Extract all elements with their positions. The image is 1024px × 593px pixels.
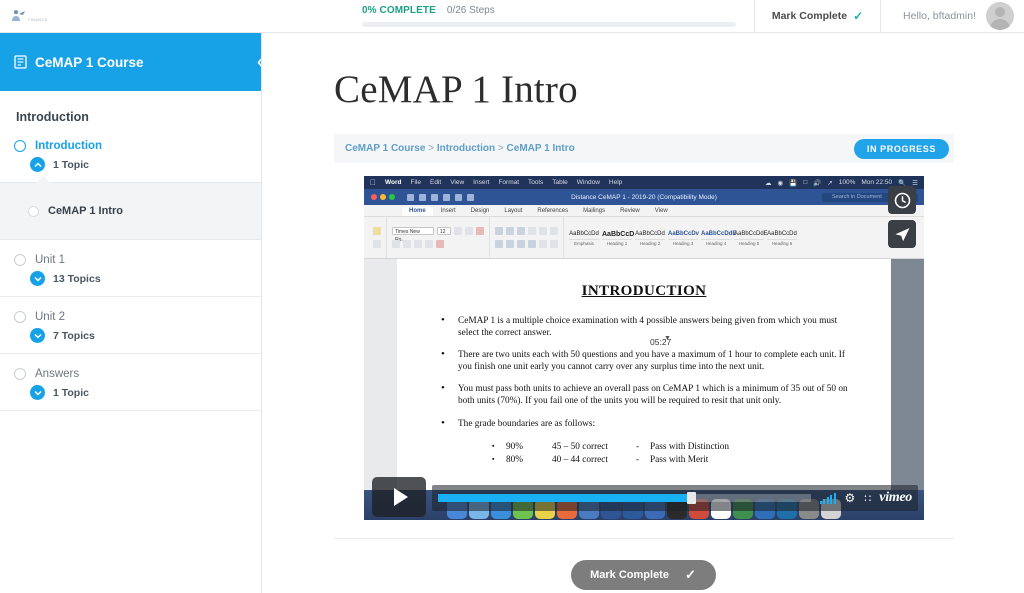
sidebar-lesson-label: Unit 2: [35, 311, 65, 323]
lesson-status-circle-icon: [14, 140, 26, 152]
progress-percent-label: 0% COMPLETE: [362, 5, 436, 16]
course-sidebar: CeMAP 1 Course Introduction Introduction: [0, 33, 262, 593]
align-right-icon: [517, 240, 525, 248]
style-preview: AaBbCcDv: [668, 230, 698, 239]
ribbon-tab-view: View: [648, 207, 675, 216]
chevron-down-icon: [30, 271, 45, 286]
justify-icon: [528, 240, 536, 248]
gear-icon[interactable]: ⚙: [845, 491, 856, 505]
style-heading-5: AaBbCcDdE Heading 5: [734, 230, 764, 246]
menubar-menu-help: Help: [609, 179, 622, 186]
breadcrumb-item-lesson[interactable]: Introduction: [437, 143, 495, 154]
user-menu[interactable]: Hello, bftadmin!: [881, 0, 1024, 32]
sidebar-topics-toggle-answers[interactable]: 1 Topic: [0, 382, 261, 410]
grade-row: 80% 40 – 44 correct - Pass with Merit: [488, 454, 857, 467]
style-name: Emphasis: [569, 239, 599, 246]
style-name: Heading 4: [701, 239, 731, 246]
ribbon-group-clipboard: [368, 217, 387, 258]
video-scrub-tooltip: ▼ 05:27: [646, 336, 675, 348]
sidebar-item-unit-2: Unit 2 7 Topics: [0, 297, 261, 354]
document-bullet-list: CeMAP 1 is a multiple choice examination…: [431, 316, 857, 430]
brand-logo-text: FINANCE: [28, 17, 48, 22]
menubar-menu-window: Window: [577, 179, 600, 186]
grid-icon[interactable]: ∷: [864, 492, 870, 505]
style-preview: AaBbCcDdE: [701, 230, 731, 239]
airplay-icon: □: [803, 179, 807, 186]
line-spacing-icon: [539, 240, 547, 248]
video-right-controls: ⚙ ∷ vimeo: [811, 490, 912, 506]
sidebar-subtopics-panel: CeMAP 1 Intro: [0, 182, 261, 240]
ribbon-tab-references: References: [530, 207, 575, 216]
sidebar-lesson-label: Answers: [35, 368, 79, 380]
word-document-page: INTRODUCTION CeMAP 1 is a multiple choic…: [397, 259, 891, 520]
strikethrough-icon: [425, 240, 433, 248]
bold-icon: [392, 240, 400, 248]
grade-percent: 80%: [506, 454, 552, 467]
sidebar-topics-label: 1 Topic: [53, 387, 89, 399]
menubar-menu-edit: Edit: [430, 179, 441, 186]
cloud-icon: ☁: [765, 179, 772, 187]
sidebar-topic-label: CeMAP 1 Intro: [48, 205, 123, 217]
volume-icon[interactable]: [820, 493, 836, 504]
topic-status-circle-icon: [28, 206, 39, 217]
bullet-list-icon: [495, 227, 503, 235]
clock-label: Mon 22:50: [861, 179, 892, 186]
ribbon-group-font: Times New Ro... 12: [387, 217, 490, 258]
save-icon: 💾: [789, 179, 797, 187]
menubar-menu-tools: Tools: [528, 179, 543, 186]
sidebar-topics-toggle-unit-2[interactable]: 7 Topics: [0, 325, 261, 353]
video-floating-buttons: [888, 186, 916, 248]
progress-bar: [362, 22, 736, 27]
sidebar-section-title: Introduction: [0, 91, 261, 134]
breadcrumb-item-course[interactable]: CeMAP 1 Course: [345, 143, 425, 154]
font-size-field: 12: [437, 227, 451, 235]
vimeo-logo[interactable]: vimeo: [879, 490, 912, 506]
video-player[interactable]:  Word File Edit View Insert Format Tool…: [364, 176, 924, 520]
align-left-icon: [495, 240, 503, 248]
menubar-menu-format: Format: [498, 179, 519, 186]
breadcrumb-separator: >: [428, 143, 434, 154]
play-icon: [394, 488, 408, 506]
mark-complete-header-button[interactable]: Mark Complete ✓: [754, 0, 881, 32]
multilevel-list-icon: [517, 227, 525, 235]
style-preview: AaBbCcDd: [569, 230, 599, 239]
video-scrub-area: ⚙ ∷ vimeo: [432, 485, 918, 511]
user-avatar-icon[interactable]: [986, 2, 1014, 30]
breadcrumb: CeMAP 1 Course > Introduction > CeMAP 1 …: [345, 143, 575, 154]
sidebar-lesson-unit-1[interactable]: Unit 1: [0, 248, 261, 268]
grade-row: 90% 45 – 50 correct - Pass with Distinct…: [488, 441, 857, 454]
ribbon-tab-design: Design: [464, 207, 497, 216]
style-name: Heading 5: [734, 239, 764, 246]
send-icon[interactable]: [888, 220, 916, 248]
sidebar-lesson-introduction[interactable]: Introduction: [0, 134, 261, 154]
video-frame-screenshot:  Word File Edit View Insert Format Tool…: [364, 176, 924, 520]
sidebar-lesson-label: Unit 1: [35, 254, 65, 266]
ribbon-tab-layout: Layout: [497, 207, 529, 216]
style-emphasis: AaBbCcDd Emphasis: [569, 230, 599, 246]
lesson-status-circle-icon: [14, 368, 26, 380]
mark-complete-label: Mark Complete: [590, 569, 669, 581]
highlight-icon: [476, 227, 484, 235]
style-preview: AaBbCcDd: [767, 230, 797, 239]
record-icon: ◉: [777, 179, 783, 187]
tooltip-caret-icon: ▼: [664, 335, 671, 342]
status-badge[interactable]: IN PROGRESS: [854, 139, 949, 159]
document-grade-table: 90% 45 – 50 correct - Pass with Distinct…: [488, 441, 857, 466]
shading-icon: [550, 240, 558, 248]
style-name: Heading 2: [635, 239, 665, 246]
breadcrumb-separator: >: [498, 143, 504, 154]
document-heading: INTRODUCTION: [431, 283, 857, 300]
page-root: FINANCE 0% COMPLETE 0/26 Steps Mark Comp…: [0, 0, 1024, 593]
grade-dash: -: [636, 441, 650, 454]
video-progress-knob[interactable]: [687, 492, 696, 504]
paste-icon: [373, 227, 381, 235]
sidebar-topics-label: 1 Topic: [53, 159, 89, 171]
top-bar: FINANCE 0% COMPLETE 0/26 Steps Mark Comp…: [0, 0, 1024, 33]
sidebar-topics-toggle-unit-1[interactable]: 13 Topics: [0, 268, 261, 296]
word-ribbon-body: Times New Ro... 12: [364, 217, 924, 259]
grade-label: Pass with Merit: [650, 454, 708, 467]
sidebar-item-introduction: Introduction 1 Topic CeMAP 1 Intro: [0, 134, 261, 240]
document-bullet: There are two units each with 50 questio…: [431, 350, 857, 373]
apple-logo-icon: : [370, 178, 376, 187]
document-bullet: The grade boundaries are as follows:: [431, 419, 857, 431]
shrink-font-icon: [465, 227, 473, 235]
sidebar-lesson-unit-2[interactable]: Unit 2: [0, 305, 261, 325]
check-icon: ✓: [853, 9, 863, 23]
word-document-area: INTRODUCTION CeMAP 1 is a multiple choic…: [364, 259, 924, 520]
breadcrumb-bar: CeMAP 1 Course > Introduction > CeMAP 1 …: [334, 134, 954, 163]
chevron-down-icon: [30, 385, 45, 400]
volume-icon: 🔊: [813, 179, 821, 187]
sidebar-topics-label: 13 Topics: [53, 273, 101, 285]
course-progress: 0% COMPLETE 0/26 Steps: [262, 0, 754, 32]
sidebar-divider: [0, 410, 261, 411]
style-preview: AaBbCcD: [602, 230, 632, 239]
content-divider: [334, 538, 954, 539]
font-color-icon: [436, 240, 444, 248]
video-controls-bar: ⚙ ∷ vimeo: [364, 484, 924, 512]
page-title: CeMAP 1 Intro: [262, 33, 1024, 112]
menubar-menu-file: File: [411, 179, 421, 186]
progress-steps-label: 0/26 Steps: [447, 5, 495, 16]
word-ribbon-tabs: Home Insert Design Layout References Mai…: [364, 205, 924, 217]
sidebar-collapse-button[interactable]: [251, 39, 262, 85]
grade-dash: -: [636, 454, 650, 467]
word-titlebar: Distance CeMAP 1 - 2019-20 (Compatibilit…: [364, 189, 924, 205]
document-bullet: CeMAP 1 is a multiple choice examination…: [431, 316, 857, 339]
style-heading-4: AaBbCcDdE Heading 4: [701, 230, 731, 246]
menubar-app-name: Word: [385, 179, 402, 186]
play-button[interactable]: [372, 477, 426, 517]
style-preview: AaBbCcDd: [635, 230, 665, 239]
battery-label: 100%: [839, 179, 856, 186]
sidebar-item-unit-1: Unit 1 13 Topics: [0, 240, 261, 297]
chevron-down-icon: [30, 328, 45, 343]
style-name: Heading 3: [668, 239, 698, 246]
grade-percent: 90%: [506, 441, 552, 454]
video-progress-slider[interactable]: [438, 494, 811, 502]
breadcrumb-item-topic[interactable]: CeMAP 1 Intro: [507, 143, 575, 154]
lesson-status-circle-icon: [14, 254, 26, 266]
style-name: Heading 6: [767, 239, 797, 246]
style-preview: AaBbCcDdE: [734, 230, 764, 239]
underline-icon: [414, 240, 422, 248]
video-progress-fill: [438, 494, 691, 502]
sidebar-item-answers: Answers 1 Topic: [0, 354, 261, 411]
sidebar-lesson-answers[interactable]: Answers: [0, 362, 261, 382]
mac-menubar:  Word File Edit View Insert Format Tool…: [364, 176, 924, 189]
ribbon-tab-home: Home: [402, 207, 433, 216]
ribbon-group-styles: AaBbCcDd Emphasis AaBbCcD Heading 1 AaBb…: [564, 230, 802, 246]
greeting-label: Hello, bftadmin!: [903, 10, 976, 22]
grade-range: 45 – 50 correct: [552, 441, 636, 454]
style-heading-1: AaBbCcD Heading 1: [602, 230, 632, 246]
brand-logo-icon[interactable]: FINANCE: [10, 8, 48, 24]
grade-range: 40 – 44 correct: [552, 454, 636, 467]
numbered-list-icon: [506, 227, 514, 235]
document-bullet: You must pass both units to achieve an o…: [431, 384, 857, 407]
style-name: Heading 1: [602, 239, 632, 246]
style-heading-6: AaBbCcDd Heading 6: [767, 230, 797, 246]
menubar-menu-table: Table: [552, 179, 568, 186]
mark-complete-header-label: Mark Complete: [772, 10, 847, 22]
sidebar-course-title: CeMAP 1 Course: [35, 55, 144, 70]
ribbon-tab-mailings: Mailings: [576, 207, 612, 216]
book-icon: [14, 55, 27, 69]
style-heading-3: AaBbCcDv Heading 3: [668, 230, 698, 246]
brand-cell[interactable]: FINANCE: [0, 0, 262, 32]
align-center-icon: [506, 240, 514, 248]
show-marks-icon: [550, 227, 558, 235]
italic-icon: [403, 240, 411, 248]
decrease-indent-icon: [528, 227, 536, 235]
mark-complete-button[interactable]: Mark Complete ✓: [571, 560, 716, 590]
ribbon-group-paragraph: [490, 217, 564, 258]
grade-label: Pass with Distinction: [650, 441, 729, 454]
sidebar-course-header[interactable]: CeMAP 1 Course: [0, 33, 261, 91]
main-content: CeMAP 1 Intro CeMAP 1 Course > Introduct…: [262, 33, 1024, 593]
check-icon: ✓: [685, 567, 696, 583]
chevron-up-icon: [30, 157, 45, 172]
grow-font-icon: [454, 227, 462, 235]
font-name-field: Times New Ro...: [392, 227, 434, 235]
sidebar-topic-cemap-1-intro[interactable]: CeMAP 1 Intro: [0, 199, 261, 223]
style-heading-2: AaBbCcDd Heading 2: [635, 230, 665, 246]
menubar-menu-insert: Insert: [473, 179, 489, 186]
sidebar-topics-label: 7 Topics: [53, 330, 95, 342]
wifi-icon: ↗: [827, 179, 832, 187]
ribbon-tab-review: Review: [613, 207, 647, 216]
lesson-status-circle-icon: [14, 311, 26, 323]
sidebar-lesson-label: Introduction: [35, 140, 102, 152]
copy-icon: [373, 240, 381, 248]
clock-icon[interactable]: [888, 186, 916, 214]
menubar-menu-view: View: [450, 179, 464, 186]
ribbon-tab-insert: Insert: [434, 207, 463, 216]
increase-indent-icon: [539, 227, 547, 235]
